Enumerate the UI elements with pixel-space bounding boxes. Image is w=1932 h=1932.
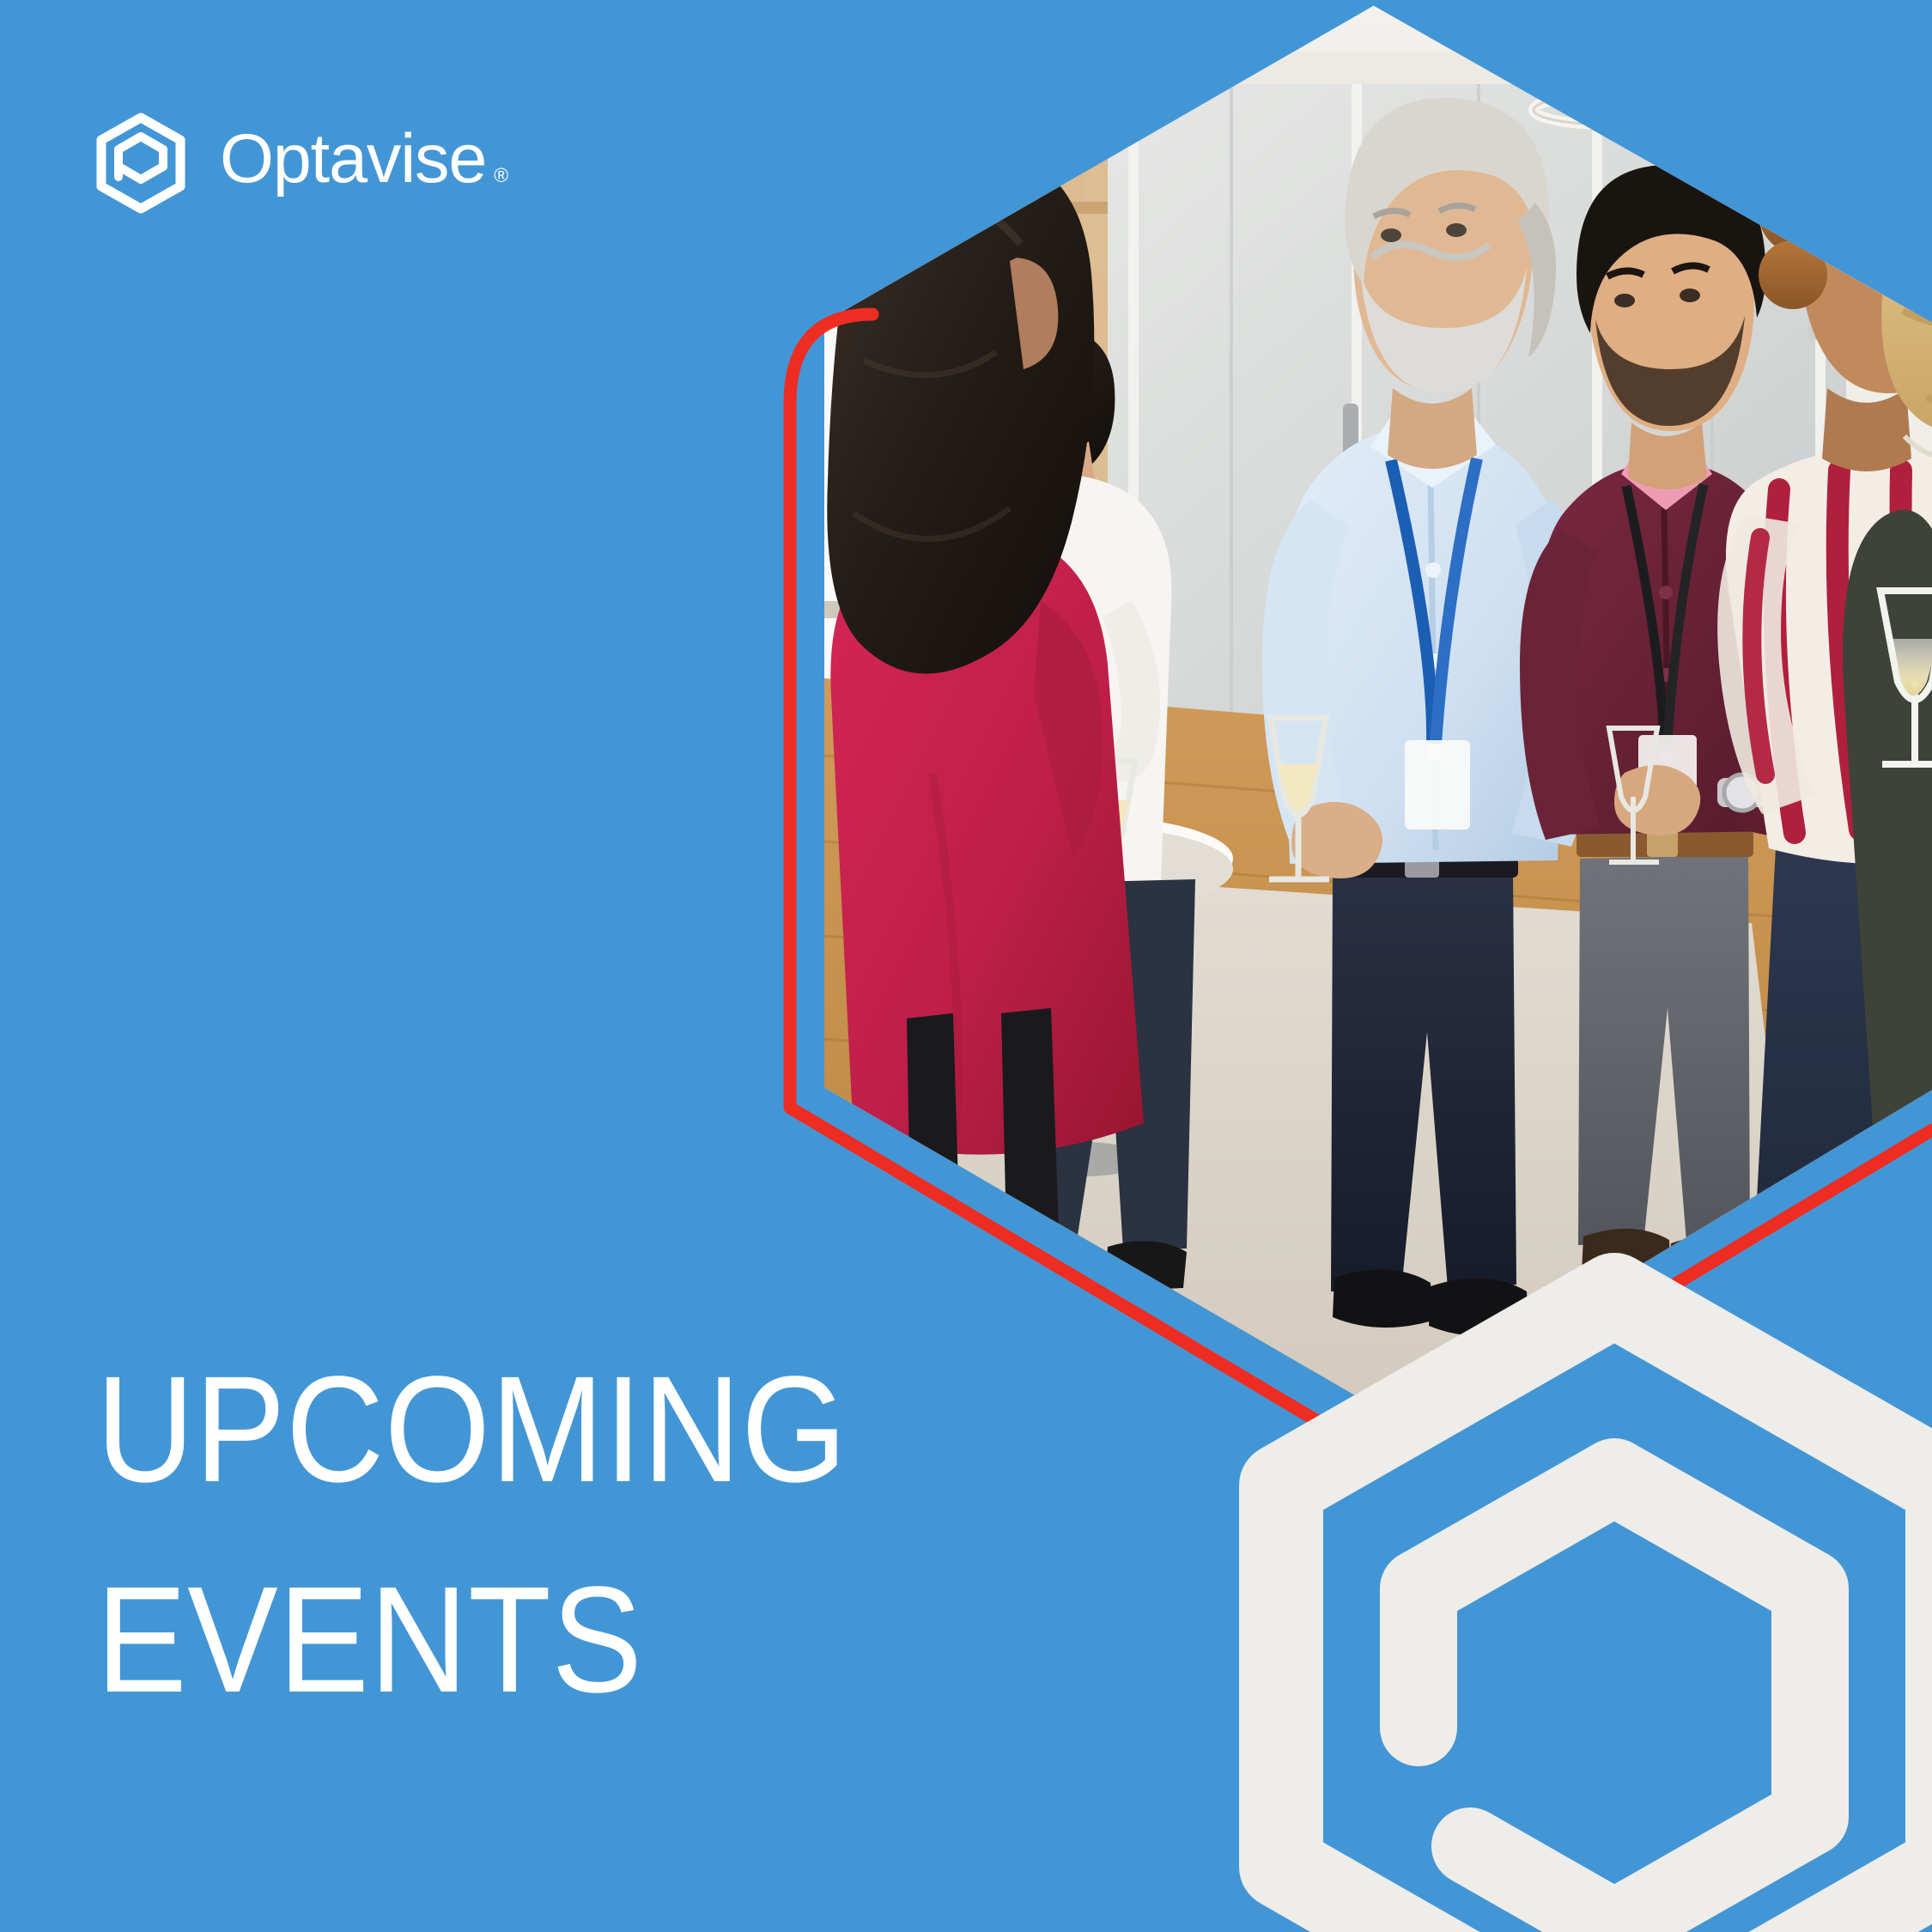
optavise-hexagon-mark-icon — [93, 110, 189, 216]
headline-line-2: EVENTS — [96, 1560, 1008, 1721]
headline-line-1: UPCOMING — [96, 1350, 1008, 1510]
page-title: UPCOMING EVENTS — [96, 1350, 1109, 1720]
brand-wordmark: Optavise ® — [220, 127, 516, 199]
registered-trademark-icon: ® — [494, 164, 508, 186]
brand-wordmark-text: Optavise — [220, 127, 486, 197]
poster-canvas: Optavise ® UPCOMING EVENTS — [0, 0, 1932, 1932]
brand-lockup: Optavise ® — [93, 110, 516, 216]
